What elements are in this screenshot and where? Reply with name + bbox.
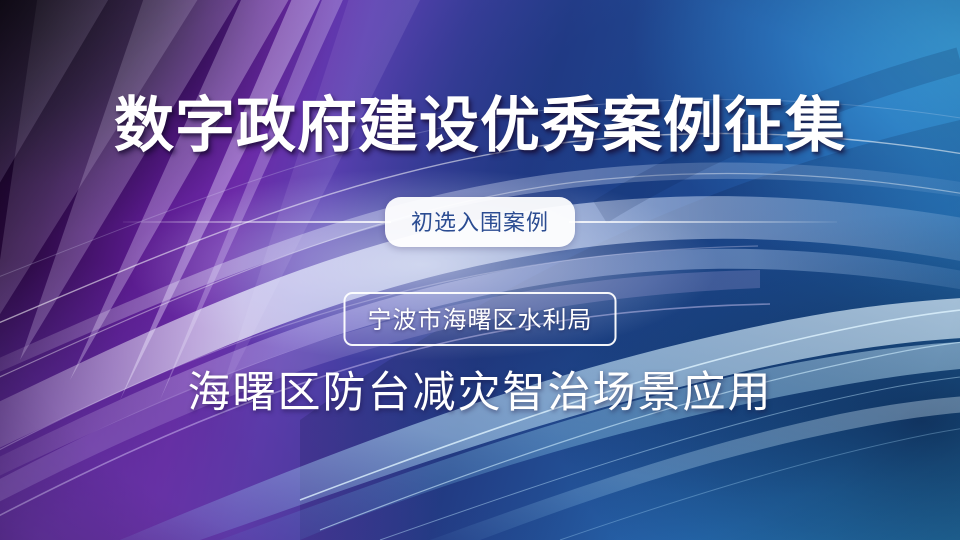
slide-content: 数字政府建设优秀案例征集 初选入围案例 宁波市海曙区水利局 海曙区防台减灾智治场… bbox=[0, 0, 960, 540]
organization-badge: 宁波市海曙区水利局 bbox=[344, 292, 617, 346]
main-title: 数字政府建设优秀案例征集 bbox=[0, 92, 960, 159]
subtitle-row: 初选入围案例 bbox=[0, 198, 960, 246]
divider-line-left bbox=[123, 221, 391, 223]
subtitle-pill: 初选入围案例 bbox=[385, 197, 575, 247]
project-title: 海曙区防台减灾智治场景应用 bbox=[0, 358, 960, 420]
presentation-slide: 数字政府建设优秀案例征集 初选入围案例 宁波市海曙区水利局 海曙区防台减灾智治场… bbox=[0, 0, 960, 540]
divider-line-right bbox=[569, 221, 837, 223]
